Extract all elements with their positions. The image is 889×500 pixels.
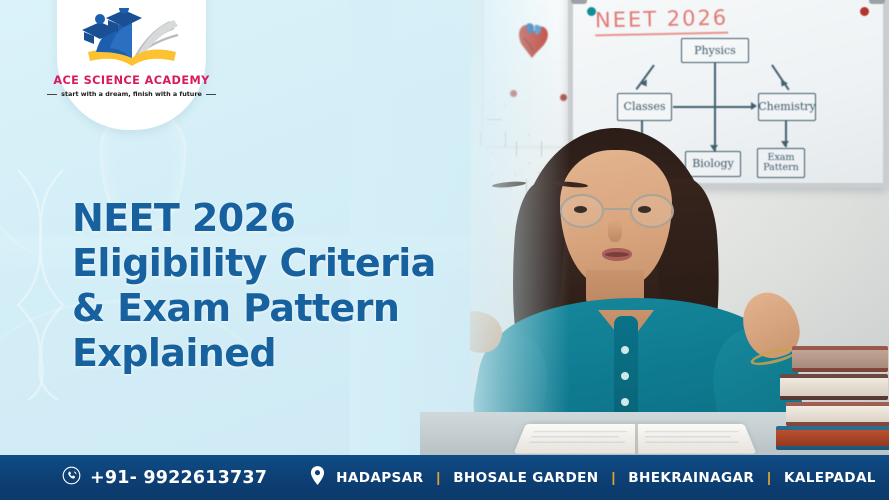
headline-line-1: NEET 2026	[72, 196, 436, 241]
headline-line-4: Explained	[72, 331, 436, 376]
arrow-classes-chemistry	[673, 106, 753, 108]
graduation-cap-book-logo-icon	[74, 8, 190, 68]
logo-tagline: start with a dream, finish with a future	[61, 90, 202, 98]
whiteboard-node-chemistry: Chemistry	[758, 93, 816, 121]
book	[776, 426, 889, 450]
tagline-dash-right	[206, 94, 216, 95]
location-kalepadal[interactable]: KALEPADAL	[784, 470, 876, 486]
logo-name: ACE SCIENCE ACADEMY	[53, 74, 209, 87]
promo-banner: NEET 2026 Physics Classes Chemistry 1 + …	[0, 0, 889, 500]
page-title: NEET 2026 Eligibility Criteria & Exam Pa…	[72, 196, 436, 376]
phone-number[interactable]: +91- 9922613737	[90, 468, 267, 488]
book	[786, 402, 889, 426]
whiteboard-title: NEET 2026	[595, 6, 729, 37]
location-separator: |	[436, 470, 440, 485]
location-separator: |	[611, 470, 615, 485]
eyeglasses	[558, 194, 676, 228]
contact-bar: +91- 9922613737 HADAPSAR | BHOSALE GARDE…	[0, 455, 889, 500]
logo-tagline-row: start with a dream, finish with a future	[47, 90, 216, 98]
phone-circle-icon	[62, 466, 81, 490]
book	[780, 374, 888, 400]
book-stack	[772, 346, 889, 456]
open-book	[513, 424, 756, 454]
whiteboard-node-classes: Classes	[617, 93, 672, 121]
map-pin-icon	[310, 466, 325, 490]
location-hadapsar[interactable]: HADAPSAR	[336, 470, 423, 486]
background-dna-art	[8, 170, 78, 400]
headline-line-3: & Exam Pattern	[72, 286, 436, 331]
location-bhosale-garden[interactable]: BHOSALE GARDEN	[453, 470, 598, 486]
arrow-physics-chemistry	[771, 65, 789, 91]
whiteboard-node-physics: Physics	[681, 38, 749, 63]
tagline-dash-left	[47, 94, 57, 95]
book	[792, 346, 888, 372]
location-separator: |	[767, 470, 771, 485]
location-bhekrainagar[interactable]: BHEKRAINAGAR	[628, 470, 754, 486]
phone-group[interactable]: +91- 9922613737	[62, 466, 267, 490]
locations-group: HADAPSAR | BHOSALE GARDEN | BHEKRAINAGAR…	[310, 466, 876, 490]
whiteboard-magnet	[860, 7, 869, 16]
headline-line-2: Eligibility Criteria	[72, 241, 436, 286]
